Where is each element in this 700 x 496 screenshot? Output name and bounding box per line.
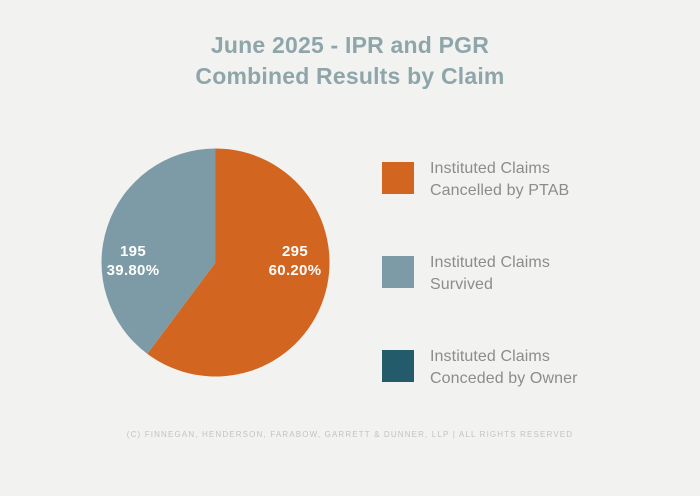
legend-swatch-survived-icon bbox=[382, 256, 414, 288]
chart-legend: Instituted Claims Cancelled by PTAB Inst… bbox=[382, 158, 682, 440]
page-title: June 2025 - IPR and PGR Combined Results… bbox=[0, 30, 700, 92]
legend-label-survived-line-2: Survived bbox=[430, 274, 550, 296]
legend-item-conceded-by-owner[interactable]: Instituted Claims Conceded by Owner bbox=[382, 346, 682, 390]
legend-label-conceded: Instituted Claims Conceded by Owner bbox=[430, 346, 578, 390]
page-title-line-2: Combined Results by Claim bbox=[0, 61, 700, 92]
legend-label-survived: Instituted Claims Survived bbox=[430, 252, 550, 296]
legend-label-conceded-line-2: Conceded by Owner bbox=[430, 368, 578, 390]
page-title-line-1: June 2025 - IPR and PGR bbox=[0, 30, 700, 61]
legend-swatch-cancelled-icon bbox=[382, 162, 414, 194]
legend-label-cancelled-line-2: Cancelled by PTAB bbox=[430, 180, 569, 202]
legend-label-cancelled-line-1: Instituted Claims bbox=[430, 158, 569, 180]
pie-chart-svg bbox=[101, 148, 330, 377]
legend-swatch-conceded-icon bbox=[382, 350, 414, 382]
pie-chart bbox=[101, 148, 330, 377]
chart-canvas: June 2025 - IPR and PGR Combined Results… bbox=[0, 0, 700, 496]
copyright-footer: (C) FINNEGAN, HENDERSON, FARABOW, GARRET… bbox=[0, 429, 700, 441]
legend-item-survived[interactable]: Instituted Claims Survived bbox=[382, 252, 682, 296]
legend-item-cancelled-by-ptab[interactable]: Instituted Claims Cancelled by PTAB bbox=[382, 158, 682, 202]
legend-label-cancelled: Instituted Claims Cancelled by PTAB bbox=[430, 158, 569, 202]
legend-label-conceded-line-1: Instituted Claims bbox=[430, 346, 578, 368]
legend-label-survived-line-1: Instituted Claims bbox=[430, 252, 550, 274]
